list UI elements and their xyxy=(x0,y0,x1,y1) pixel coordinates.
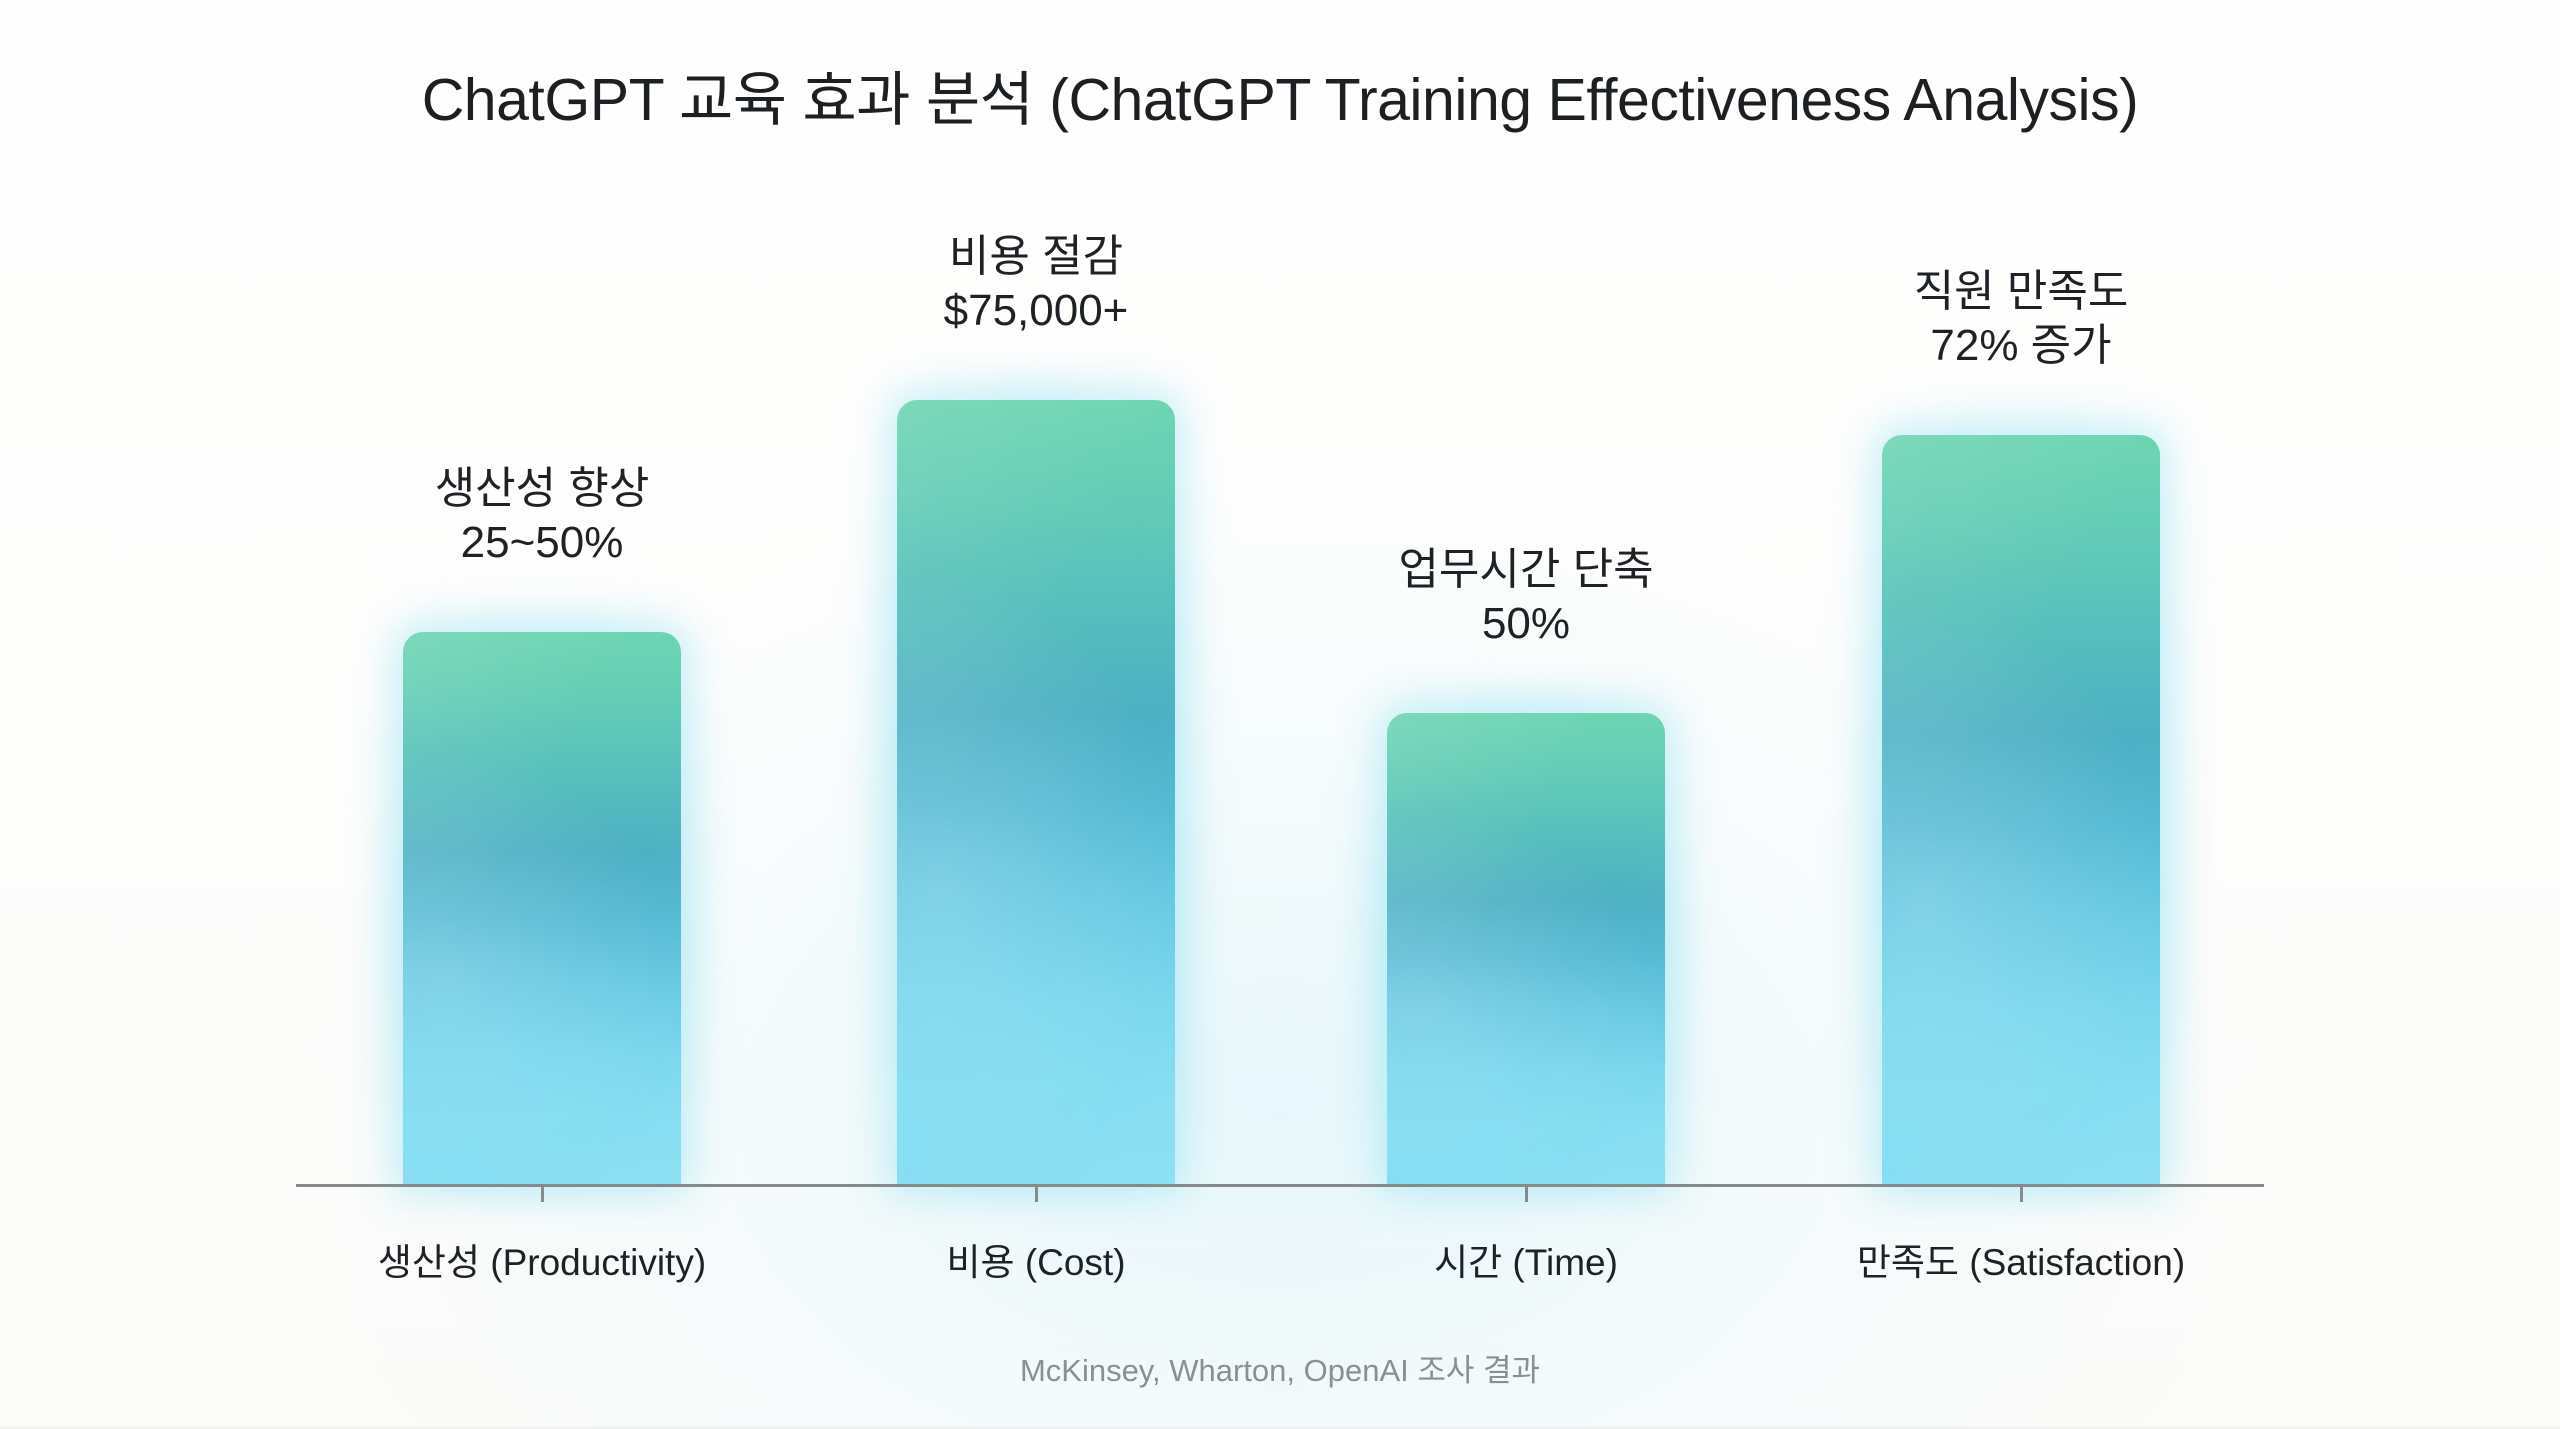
bar-satisfaction[interactable] xyxy=(1882,435,2160,1185)
bar-fill[interactable] xyxy=(1387,713,1665,1185)
axis-label-4: 만족도 (Satisfaction) xyxy=(1857,1232,2185,1286)
annotation-label: 업무시간 단축 xyxy=(1398,545,1653,594)
bar-fill[interactable] xyxy=(1882,435,2160,1185)
axis-label-3: 시간 (Time) xyxy=(1434,1232,1618,1286)
bar-cost[interactable] xyxy=(897,400,1175,1185)
bar-fill[interactable] xyxy=(897,400,1175,1185)
bar-time[interactable] xyxy=(1387,713,1665,1185)
annotation-label: 직원 만족도 xyxy=(1914,267,2129,316)
bar-productivity[interactable] xyxy=(403,632,681,1185)
annotation-value: 72% 증가 xyxy=(1914,319,2129,373)
x-axis-line xyxy=(296,1184,2264,1187)
bar-satisfaction-annotation: 직원 만족도72% 증가 xyxy=(1914,265,2129,372)
axis-tick xyxy=(1525,1187,1528,1202)
annotation-label: 비용 절감 xyxy=(949,232,1123,281)
chart-figure: ChatGPT 교육 효과 분석 (ChatGPT Training Effec… xyxy=(0,0,2560,1429)
axis-label-1: 생산성 (Productivity) xyxy=(378,1232,706,1286)
annotation-label: 생산성 향상 xyxy=(435,464,650,513)
bar-cost-annotation: 비용 절감$75,000+ xyxy=(944,230,1129,337)
bar-time-annotation: 업무시간 단축50% xyxy=(1398,543,1653,650)
axis-label-2: 비용 (Cost) xyxy=(946,1232,1125,1286)
bar-fill[interactable] xyxy=(403,632,681,1185)
annotation-value: $75,000+ xyxy=(944,284,1129,338)
annotation-value: 50% xyxy=(1398,597,1653,651)
bottom-edge-shade xyxy=(0,1425,2560,1429)
annotation-value: 25~50% xyxy=(435,516,650,570)
bar-productivity-annotation: 생산성 향상25~50% xyxy=(435,462,650,569)
axis-tick xyxy=(1035,1187,1038,1202)
plot-area: 생산성 향상25~50%비용 절감$75,000+업무시간 단축50%직원 만족… xyxy=(0,0,2560,1429)
axis-tick xyxy=(2020,1187,2023,1202)
source-footnote: McKinsey, Wharton, OpenAI 조사 결과 xyxy=(0,1345,2560,1390)
axis-tick xyxy=(541,1187,544,1202)
